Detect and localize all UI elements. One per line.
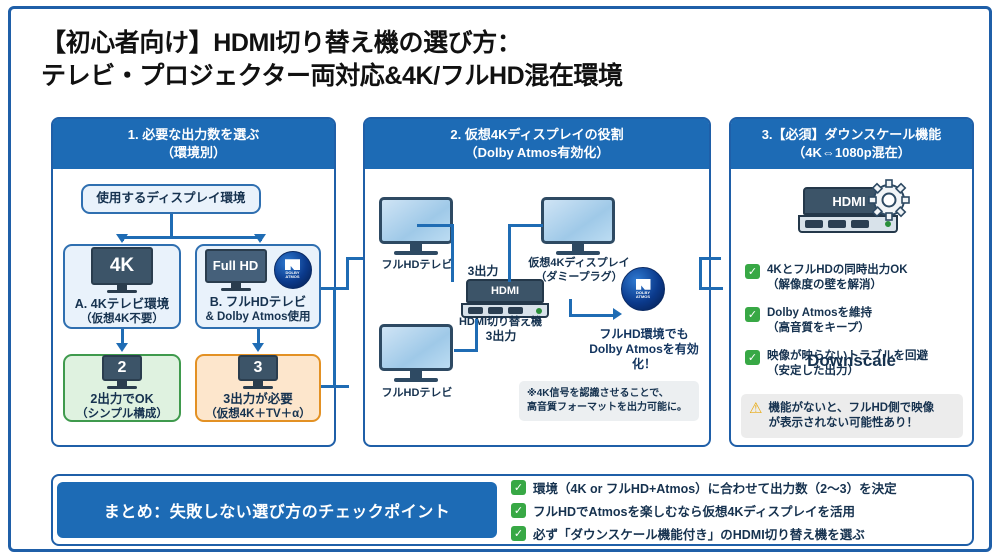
option-b-label-2: & Dolby Atmos使用 <box>206 310 311 324</box>
hdmi-switch-device-icon: HDMI <box>466 279 549 318</box>
cable-tv-top-vertical <box>451 224 454 282</box>
tv-foot <box>556 251 600 255</box>
tv-screen <box>541 197 615 244</box>
check-item-2: ✓ Dolby Atmosを維持 （高音質をキープ） <box>745 306 967 336</box>
check-icon: ✓ <box>745 307 760 322</box>
panel2-header: 2. 仮想4Kディスプレイの役割 （Dolby Atmos有効化） <box>365 119 709 169</box>
monitor-count-2-icon: 2 <box>102 355 142 389</box>
monitor-fullhd-icon: Full HD <box>205 249 267 291</box>
arrow-split-horizontal <box>121 236 261 239</box>
result-b-label-2: （仮想4K＋TV＋α） <box>205 407 310 421</box>
arrow-head-to-dolby <box>613 308 622 320</box>
atmos-enabled-text: フルHD環境でも Dolby Atmosを有効化！ <box>579 327 709 372</box>
out-count-top-label: 3出力 <box>463 264 503 279</box>
panel3-header-line2: （4K⇔1080p混在） <box>735 144 968 162</box>
summary-item: ✓ 必ず「ダウンスケール機能付き」のHDMI切り替え機を選ぶ <box>511 524 897 543</box>
node-option-a[interactable]: 4K A. 4Kテレビ環境 （仮想4K不要） <box>63 244 181 329</box>
tv-screen <box>379 197 453 244</box>
check-item-3-text: 映像が映らないトラブルを回避 （安定した出力） <box>767 349 928 379</box>
dolby-atmos-result-icon: DOLBY ATMOS <box>621 267 665 311</box>
dolby-badge-bottom: ATMOS <box>636 295 650 299</box>
monitor-neck <box>117 285 127 290</box>
hdmi-port <box>805 220 823 228</box>
panel1-header: 1. 必要な出力数を選ぶ （環境別） <box>53 119 334 169</box>
connector-p2-p3-h2 <box>699 257 721 260</box>
page-title: 【初心者向け】HDMI切り替え機の選び方： テレビ・プロジェクター両対応&4K/… <box>41 27 971 93</box>
panel1-header-line2: （環境別） <box>57 144 330 162</box>
cable-virtual-horizontal <box>508 224 543 227</box>
monitor-count-3-icon: 3 <box>238 355 278 389</box>
summary-bar: まとめ：失敗しない選び方のチェックポイント ✓ 環境（4K or フルHD+At… <box>51 474 974 546</box>
option-a-label-1: A. 4Kテレビ環境 <box>75 297 169 313</box>
atmos-enabled-line1: フルHD環境でも <box>579 327 709 342</box>
panel3-header-line1: 3.【必須】ダウンスケール機能 <box>735 126 968 144</box>
arrow-to-dolby-h <box>569 314 615 317</box>
footnote-4k-signal: ※4K信号を認識させることで、 高音質フォーマットを出力可能に。 <box>519 381 699 421</box>
tv-fullhd-bottom-icon <box>379 324 453 382</box>
connector-p2-p3-v <box>699 257 702 290</box>
panel2-header-line1: 2. 仮想4Kディスプレイの役割 <box>369 126 705 144</box>
monitor-foot <box>107 386 137 389</box>
warning-triangle-icon: ⚠ <box>749 401 762 416</box>
monitor-count-3-value: 3 <box>238 355 278 381</box>
hdmi-port <box>828 220 846 228</box>
arrow-head-result-a <box>116 343 128 352</box>
node-option-b[interactable]: Full HD DOLBY ATMOS B. フルHDテレビ & Dolby A… <box>195 244 321 329</box>
node-display-environment[interactable]: 使用するディスプレイ環境 <box>81 184 261 214</box>
monitor-foot <box>221 288 251 291</box>
node-result-two-outputs[interactable]: 2 2出力でOK （シンプル構成） <box>63 354 181 422</box>
panel1-header-line1: 1. 必要な出力数を選ぶ <box>57 126 330 144</box>
option-b-label-1: B. フルHDテレビ <box>210 295 307 311</box>
check-item-1-line2: （解像度の壁を解消） <box>767 278 908 293</box>
cable-tv-bottom-horizontal <box>454 349 478 352</box>
connector-p2-p3-h1 <box>699 287 723 290</box>
cable-tv-bottom-vertical <box>475 319 478 352</box>
dolby-badge-bottom: ATMOS <box>285 275 299 279</box>
option-a-label-2: （仮想4K不要） <box>80 312 164 326</box>
check-icon: ✓ <box>745 264 760 279</box>
connector-p1-p2-v <box>346 257 349 290</box>
monitor-neck <box>253 381 263 386</box>
check-item-1: ✓ 4KとフルHDの同時出力OK （解像度の壁を解消） <box>745 263 967 293</box>
check-icon: ✓ <box>745 350 760 365</box>
summary-item-1-text: 環境（4K or フルHD+Atmos）に合わせて出力数（2〜3）を決定 <box>533 478 897 497</box>
summary-label: まとめ：失敗しない選び方のチェックポイント <box>57 482 497 538</box>
infographic-frame: 【初心者向け】HDMI切り替え機の選び方： テレビ・プロジェクター両対応&4K/… <box>8 6 992 552</box>
arrow-root-down <box>170 214 173 236</box>
check-item-1-text: 4KとフルHDの同時出力OK （解像度の壁を解消） <box>767 263 908 293</box>
summary-item-2-text: フルHDでAtmosを楽しむなら仮想4Kディスプレイを活用 <box>533 501 855 520</box>
check-item-1-line1: 4KとフルHDの同時出力OK <box>767 263 908 278</box>
dolby-atmos-icon: DOLBY ATMOS <box>274 251 312 289</box>
hdmi-port <box>488 307 503 314</box>
monitor-foot <box>107 290 137 293</box>
hdmi-port <box>468 307 483 314</box>
check-item-2-text: Dolby Atmosを維持 （高音質をキープ） <box>767 306 872 336</box>
monitor-fullhd-screen-label: Full HD <box>205 249 267 283</box>
tv-neck <box>410 244 422 251</box>
virtual-4k-display-icon <box>541 197 615 255</box>
hdmi-port <box>851 220 869 228</box>
monitor-foot <box>243 386 273 389</box>
virtual-4k-label-line1: 仮想4Kディスプレイ <box>523 257 635 271</box>
downscale-warning: ⚠ 機能がないと、フルHD側で映像 が表示されない可能性あり！ <box>741 394 963 438</box>
monitor-4k-icon: 4K <box>91 247 153 293</box>
panel2-header-line2: （Dolby Atmos有効化） <box>369 144 705 162</box>
check-item-3-line1: 映像が映らないトラブルを回避 <box>767 349 928 364</box>
cable-virtual-vertical <box>508 224 511 282</box>
connector-p1-p2-h2 <box>346 257 364 260</box>
check-icon: ✓ <box>511 503 526 518</box>
arrow-head-to-b <box>254 234 266 243</box>
result-a-label-2: （シンプル構成） <box>76 407 168 421</box>
tv-foot <box>394 378 438 382</box>
monitor-neck <box>231 283 241 288</box>
warning-line2: が表示されない可能性あり！ <box>768 416 934 431</box>
gear-icon <box>868 179 910 221</box>
title-line-1: 【初心者向け】HDMI切り替え機の選び方： <box>41 29 521 57</box>
monitor-count-2-value: 2 <box>102 355 142 381</box>
summary-list: ✓ 環境（4K or フルHD+Atmos）に合わせて出力数（2〜3）を決定 ✓… <box>497 478 897 543</box>
panel3-header: 3.【必須】ダウンスケール機能 （4K⇔1080p混在） <box>731 119 972 169</box>
cable-tv-top-horizontal <box>417 224 454 227</box>
hdmi-port <box>508 307 523 314</box>
check-item-2-line2: （高音質をキープ） <box>767 321 872 336</box>
dolby-double-d-glyph <box>285 259 300 270</box>
tv-foot <box>394 251 438 255</box>
power-led-icon <box>536 308 542 314</box>
node-display-environment-label: 使用するディスプレイ環境 <box>96 191 245 207</box>
summary-item-3-text: 必ず「ダウンスケール機能付き」のHDMI切り替え機を選ぶ <box>533 524 865 543</box>
check-item-3-line2: （安定した出力） <box>767 364 928 379</box>
tv-neck <box>410 371 422 378</box>
arrow-head-to-a <box>116 234 128 243</box>
footnote-line1: ※4K信号を認識させることで、 <box>527 387 691 401</box>
footnote-line2: 高音質フォーマットを出力可能に。 <box>527 401 691 415</box>
check-icon: ✓ <box>511 526 526 541</box>
check-item-3: ✓ 映像が映らないトラブルを回避 （安定した出力） <box>745 349 967 379</box>
tv-screen <box>379 324 453 371</box>
hdmi-switch-brand: HDMI <box>466 279 544 303</box>
atmos-enabled-line2: Dolby Atmosを有効化！ <box>579 342 709 372</box>
connector-p1-p2-v2 <box>333 287 336 388</box>
title-line-2: テレビ・プロジェクター両対応&4K/フルHD混在環境 <box>41 60 971 93</box>
check-item-2-line1: Dolby Atmosを維持 <box>767 306 872 321</box>
monitor-4k-screen-label: 4K <box>91 247 153 285</box>
downscale-warning-text: 機能がないと、フルHD側で映像 が表示されない可能性あり！ <box>768 401 934 431</box>
check-icon: ✓ <box>511 480 526 495</box>
power-led-icon <box>885 221 891 227</box>
summary-item: ✓ フルHDでAtmosを楽しむなら仮想4Kディスプレイを活用 <box>511 501 897 520</box>
out-count-bottom-label: 3出力 <box>481 329 521 344</box>
result-a-label-1: 2出力でOK <box>90 392 153 408</box>
tv-fullhd-bottom-label: フルHDテレビ <box>369 387 465 401</box>
arrow-head-result-b <box>252 343 264 352</box>
warning-line1: 機能がないと、フルHD側で映像 <box>768 401 934 416</box>
node-result-three-outputs[interactable]: 3 3出力が必要 （仮想4K＋TV＋α） <box>195 354 321 422</box>
tv-neck <box>572 244 584 251</box>
summary-item: ✓ 環境（4K or フルHD+Atmos）に合わせて出力数（2〜3）を決定 <box>511 478 897 497</box>
result-b-label-1: 3出力が必要 <box>223 392 292 408</box>
monitor-neck <box>117 381 127 386</box>
dolby-double-d-glyph <box>636 279 651 290</box>
hdmi-switch-label: HDMI切り替え機 <box>438 316 563 330</box>
